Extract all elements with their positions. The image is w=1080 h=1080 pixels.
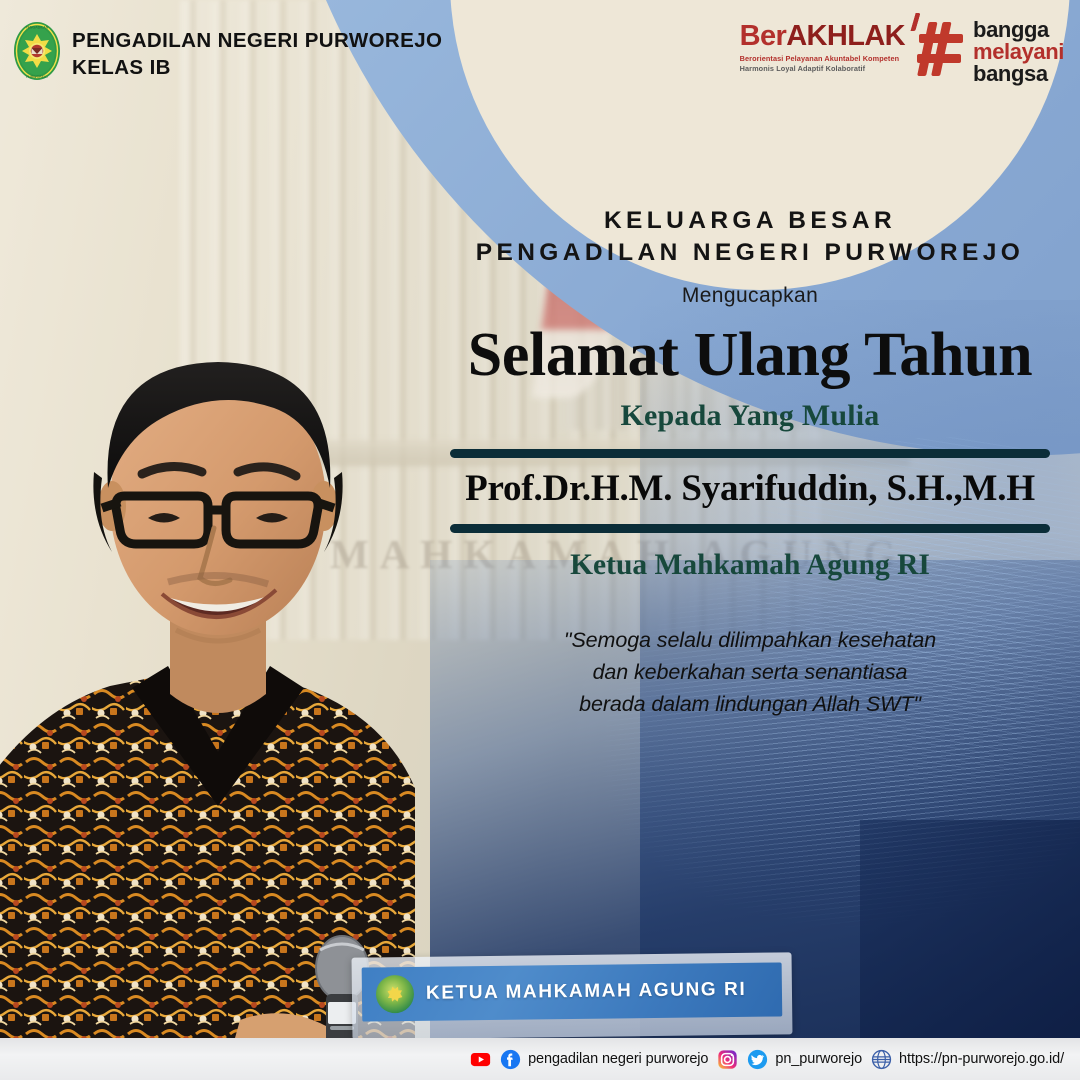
berakhlak-tagline: bangga melayani bangsa xyxy=(973,18,1064,85)
court-name: PENGADILAN NEGERI PURWOREJO xyxy=(72,27,442,54)
berakhlak-subtitle-line2: Harmonis Loyal Adaptif Kolaboratif xyxy=(740,64,905,74)
greeting-verb: Mengucapkan xyxy=(430,284,1070,308)
berakhlak-logo: BerAKHLAK Berorientasi Pelayanan Akuntab… xyxy=(740,18,1064,85)
blessing-quote: "Semoga selalu dilimpahkan kesehatan dan… xyxy=(430,624,1070,721)
berakhlak-ber: Ber xyxy=(740,20,787,52)
footer-social-bar: pengadilan negeri purworejo xyxy=(0,1038,1080,1080)
berakhlak-tagline-2: melayani xyxy=(973,41,1064,63)
portrait-photo xyxy=(0,278,460,1048)
greeting-line-2: PENGADILAN NEGERI PURWOREJO xyxy=(430,237,1070,269)
berakhlak-tagline-3: bangsa xyxy=(973,63,1064,85)
headline: Selamat Ulang Tahun xyxy=(430,322,1070,389)
youtube-icon[interactable] xyxy=(470,1049,491,1070)
svg-text:PURWOREJO: PURWOREJO xyxy=(26,75,48,79)
mahkamah-agung-seal-icon xyxy=(376,975,414,1013)
footer-item-facebook[interactable]: pengadilan negeri purworejo xyxy=(500,1049,708,1070)
berakhlak-subtitle: Berorientasi Pelayanan Akuntabel Kompete… xyxy=(740,54,905,75)
instagram-icon[interactable] xyxy=(717,1049,738,1070)
header: PENGADILAN PURWOREJO PENGADILAN NEGERI P… xyxy=(0,0,1080,98)
desk-nameplate: KETUA MAHKAMAH AGUNG RI xyxy=(352,952,793,1039)
divider-top xyxy=(450,449,1050,458)
quote-line-3: berada dalam lindungan Allah SWT" xyxy=(430,688,1070,720)
hashtag-icon xyxy=(911,20,967,78)
honorific-label: Kepada Yang Mulia xyxy=(430,399,1070,433)
nameplate-text: KETUA MAHKAMAH AGUNG RI xyxy=(426,979,747,1005)
court-class: KELAS IB xyxy=(72,54,442,81)
nameplate-card: KETUA MAHKAMAH AGUNG RI xyxy=(362,962,783,1021)
globe-icon[interactable] xyxy=(871,1049,892,1070)
footer-label-website: https://pn-purworejo.go.id/ xyxy=(899,1051,1064,1067)
quote-line-1: "Semoga selalu dilimpahkan kesehatan xyxy=(430,624,1070,656)
footer-item-youtube[interactable] xyxy=(470,1049,491,1070)
divider-bottom xyxy=(450,524,1050,533)
footer-label-twitter: pn_purworejo xyxy=(775,1051,862,1067)
twitter-icon[interactable] xyxy=(747,1049,768,1070)
facebook-icon[interactable] xyxy=(500,1049,521,1070)
footer-label-facebook: pengadilan negeri purworejo xyxy=(528,1051,708,1067)
main-content: KELUARGA BESAR PENGADILAN NEGERI PURWORE… xyxy=(430,205,1070,720)
footer-item-website[interactable]: https://pn-purworejo.go.id/ xyxy=(871,1049,1064,1070)
svg-text:PENGADILAN: PENGADILAN xyxy=(26,25,49,29)
quote-line-2: dan keberkahan serta senantiasa xyxy=(430,656,1070,688)
background-navy-corner xyxy=(860,820,1080,1050)
berakhlak-akhlak: AKHLAK xyxy=(786,20,905,52)
honoree-title: Ketua Mahkamah Agung RI xyxy=(430,549,1070,582)
footer-item-instagram[interactable] xyxy=(717,1049,738,1070)
berakhlak-tagline-1: bangga xyxy=(973,19,1064,41)
berakhlak-subtitle-line1: Berorientasi Pelayanan Akuntabel Kompete… xyxy=(740,54,905,64)
honoree-name: Prof.Dr.H.M. Syarifuddin, S.H.,M.H xyxy=(430,467,1070,510)
header-title-block: PENGADILAN NEGERI PURWOREJO KELAS IB xyxy=(72,27,442,82)
footer-item-twitter[interactable]: pn_purworejo xyxy=(747,1049,862,1070)
greeting-line-1: KELUARGA BESAR xyxy=(430,205,1070,237)
berakhlak-wordmark: BerAKHLAK xyxy=(740,22,905,51)
poster-canvas: MAHKAMAH AGUNG PENGADILAN PURWOREJO xyxy=(0,0,1080,1080)
pengadilan-negeri-seal-icon: PENGADILAN PURWOREJO xyxy=(12,20,62,82)
